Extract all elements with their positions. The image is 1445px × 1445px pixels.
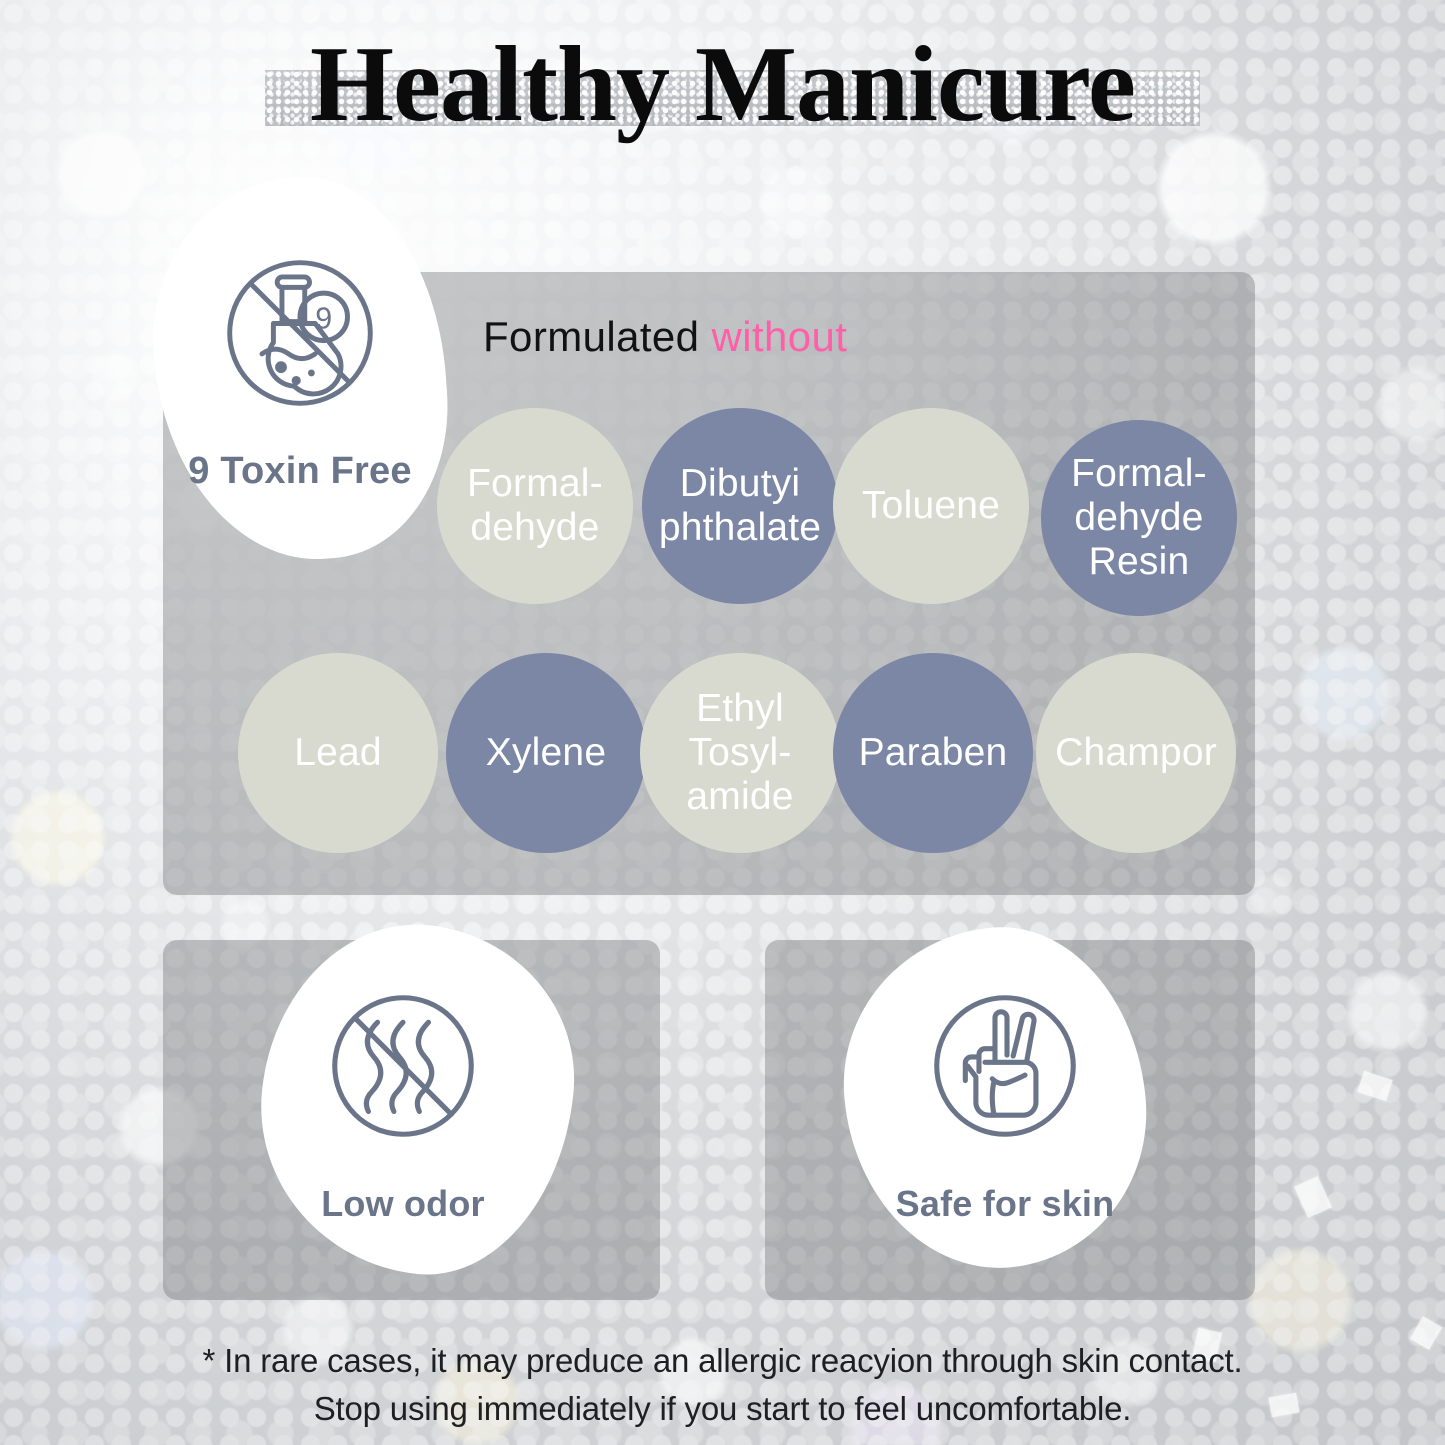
ingredient-circle-paraben: Paraben bbox=[833, 653, 1033, 853]
ingredient-circle-lead: Lead bbox=[238, 653, 438, 853]
badge-label-low-odor: Low odor bbox=[321, 1183, 485, 1225]
badge-9-toxin-free: 9 9 Toxin Free bbox=[160, 238, 440, 493]
page-title-wrap: Healthy Manicure bbox=[0, 28, 1445, 141]
heading-word-without: without bbox=[712, 313, 848, 360]
ingredient-circle-dibutyi-phthalate: Dibutyi phthalate bbox=[642, 408, 838, 604]
footnote-line-1: * In rare cases, it may preduce an aller… bbox=[0, 1337, 1445, 1385]
ingredient-circle-formaldehyde-resin: Formal- dehyde Resin bbox=[1041, 420, 1237, 616]
no-odor-waves-icon bbox=[312, 975, 494, 1157]
badge-low-odor: Low odor bbox=[268, 975, 538, 1225]
ingredient-circle-champor: Champor bbox=[1036, 653, 1236, 853]
ingredient-circle-toluene: Toluene bbox=[833, 408, 1029, 604]
footnote: * In rare cases, it may preduce an aller… bbox=[0, 1337, 1445, 1433]
svg-text:9: 9 bbox=[315, 301, 332, 335]
formulated-without-heading: Formulated without bbox=[483, 313, 847, 361]
ingredient-circle-ethyl-tosylamide: Ethyl Tosyl- amide bbox=[640, 653, 840, 853]
peace-hand-icon bbox=[914, 975, 1096, 1157]
badge-label-safe-for-skin: Safe for skin bbox=[896, 1183, 1115, 1225]
page-title: Healthy Manicure bbox=[0, 28, 1445, 141]
badge-label-9-toxin-free: 9 Toxin Free bbox=[188, 450, 411, 493]
badge-safe-for-skin: Safe for skin bbox=[870, 975, 1140, 1225]
footnote-line-2: Stop using immediately if you start to f… bbox=[0, 1385, 1445, 1433]
heading-word-formulated: Formulated bbox=[483, 313, 699, 360]
no-toxin-flask-icon: 9 bbox=[205, 238, 395, 428]
infographic-page: Healthy Manicure Formulated without Form… bbox=[0, 0, 1445, 1445]
ingredient-circle-formaldehyde: Formal- dehyde bbox=[437, 408, 633, 604]
ingredient-circle-xylene: Xylene bbox=[446, 653, 646, 853]
